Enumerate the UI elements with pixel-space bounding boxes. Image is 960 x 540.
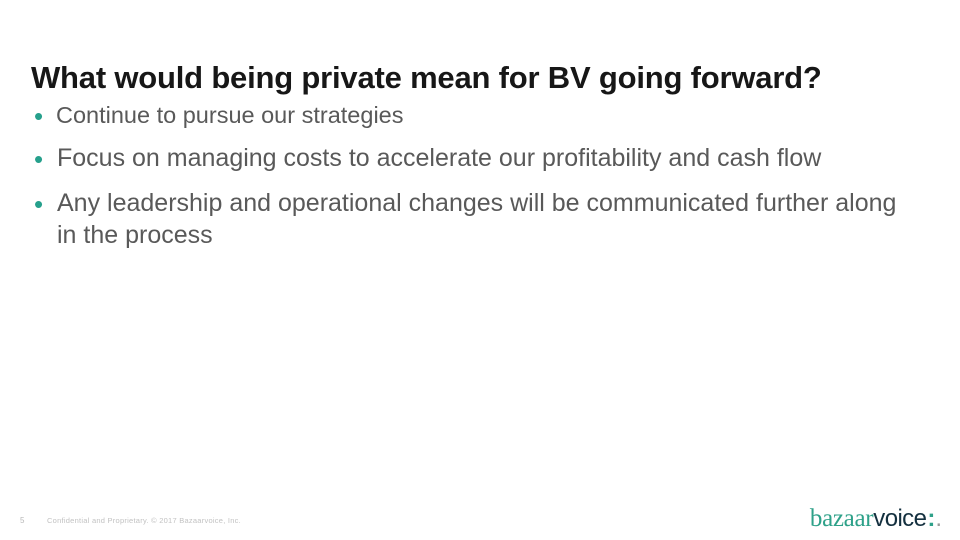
confidentiality-notice: Confidential and Proprietary. © 2017 Baz… (47, 516, 241, 525)
bullet-list: • Continue to pursue our strategies • Fo… (28, 100, 928, 251)
page-number: 5 (20, 516, 25, 525)
logo-dot-mark: . (935, 507, 942, 531)
list-item-text: Focus on managing costs to accelerate ou… (54, 142, 928, 174)
page-title: What would being private mean for BV goi… (31, 61, 931, 95)
logo-text-bazaar: bazaar (810, 506, 873, 531)
logo-colon-mark: : (927, 507, 935, 531)
list-item: • Focus on managing costs to accelerate … (28, 142, 928, 174)
slide-footer: 5 Confidential and Proprietary. © 2017 B… (0, 496, 960, 540)
logo-text-voice: voice (873, 507, 926, 531)
bullet-point-icon: • (28, 142, 54, 172)
bazaarvoice-logo: bazaar voice : . (810, 506, 942, 531)
bullet-point-icon: • (28, 187, 53, 217)
slide-canvas: What would being private mean for BV goi… (0, 0, 960, 540)
list-item: • Continue to pursue our strategies (28, 100, 928, 130)
list-item-text: Any leadership and operational changes w… (53, 187, 902, 251)
bullet-point-icon: • (28, 100, 54, 129)
list-item: • Any leadership and operational changes… (28, 187, 928, 251)
list-item-text: Continue to pursue our strategies (54, 100, 928, 130)
